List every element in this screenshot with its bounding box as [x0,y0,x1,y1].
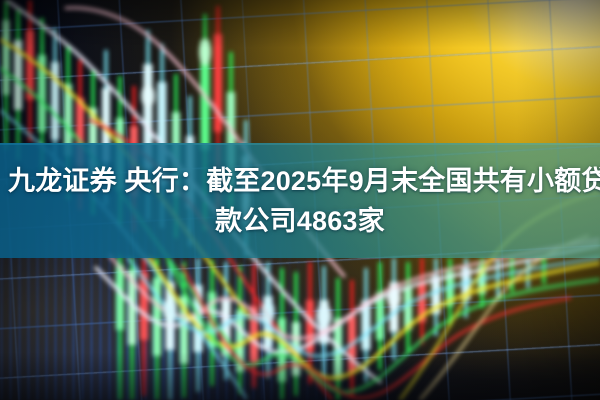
caption-line-2: 款公司4863家 [215,204,385,238]
caption-text-block: 九龙证券 央行：截至2025年9月末全国共有小额贷 款公司4863家 [0,143,600,258]
news-thumbnail-image: 九龙证券 央行：截至2025年9月末全国共有小额贷 款公司4863家 [0,0,600,400]
caption-line-1: 九龙证券 央行：截至2025年9月末全国共有小额贷 [8,164,592,198]
